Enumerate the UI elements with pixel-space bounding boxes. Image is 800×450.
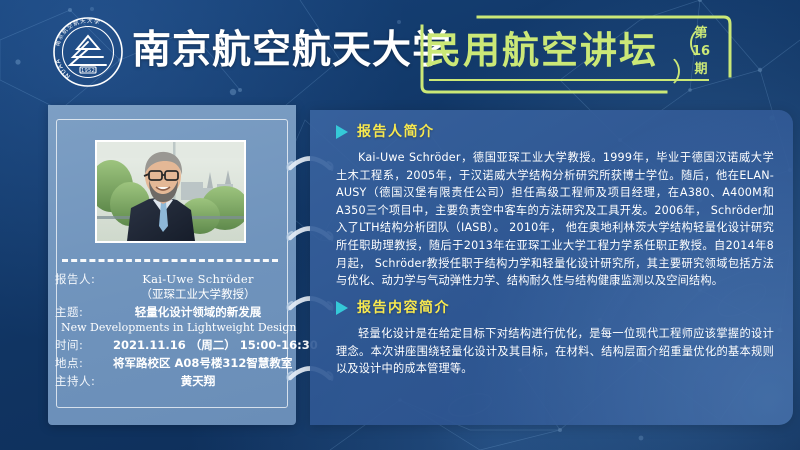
info-row-venue: 地点: 将军路校区 A08号楼312智慧教室 <box>55 356 291 371</box>
info-row-host: 主持人: 黄天翔 <box>55 374 291 389</box>
info-sub-topic-en: New Developments in Lightweight Design <box>61 320 291 335</box>
section-speaker-bio-title: 报告人简介 <box>357 123 435 141</box>
info-label-time: 时间: <box>55 338 111 353</box>
section-abstract: 报告内容简介 轻量化设计是在给定目标下对结构进行优化，是每一位现代工程师应该掌握… <box>336 298 774 378</box>
poster-root: 1952 NUAA 南京航空航天大学 南京航空航天大学 <box>0 0 800 450</box>
issue-prefix: 第 <box>684 26 718 42</box>
info-value-speaker: Kai-Uwe Schröder <box>113 272 291 287</box>
nuaa-logo-icon: 1952 NUAA 南京航空航天大学 <box>52 16 124 88</box>
issue-suffix: 期 <box>684 62 718 78</box>
svg-text:1952: 1952 <box>81 68 95 74</box>
section-speaker-bio: 报告人简介 Kai-Uwe Schröder，德国亚琛工业大学教授。1999年，… <box>336 122 774 290</box>
speaker-photo <box>95 140 246 243</box>
card-divider <box>62 259 278 262</box>
info-value-host: 黄天翔 <box>113 374 291 389</box>
info-value-topic: 轻量化设计领域的新发展 <box>113 305 291 320</box>
issue-number: 16 <box>684 44 718 60</box>
university-name: 南京航空航天大学 <box>132 27 452 75</box>
info-label-host: 主持人: <box>55 374 111 389</box>
section-speaker-bio-body: Kai-Uwe Schröder，德国亚琛工业大学教授。1999年，毕业于德国汉… <box>336 149 774 290</box>
section-abstract-header: 报告内容简介 <box>336 298 774 318</box>
section-abstract-title: 报告内容简介 <box>357 299 450 317</box>
forum-title: 民用航空讲坛 <box>424 26 658 76</box>
section-speaker-bio-header: 报告人简介 <box>336 122 774 142</box>
info-label-venue: 地点: <box>55 356 111 371</box>
info-row-time: 时间: 2021.11.16 （周二） 15:00-16:30 <box>55 338 291 353</box>
triangle-marker-icon <box>336 301 348 315</box>
info-value-venue: 将军路校区 A08号楼312智慧教室 <box>113 356 291 371</box>
info-label-topic: 主题: <box>55 305 111 320</box>
info-value-time: 2021.11.16 （周二） 15:00-16:30 <box>113 338 291 353</box>
section-abstract-body: 轻量化设计是在给定目标下对结构进行优化，是每一位现代工程师应该掌握的设计理念。本… <box>336 325 774 378</box>
info-label-speaker: 报告人: <box>55 272 111 287</box>
speaker-info-list: 报告人: Kai-Uwe Schröder （亚琛工业大学教授） 主题: 轻量化… <box>55 272 291 392</box>
info-row-speaker: 报告人: Kai-Uwe Schröder （亚琛工业大学教授） <box>55 272 291 302</box>
info-row-topic: 主题: 轻量化设计领域的新发展 New Developments in Ligh… <box>55 305 291 335</box>
triangle-marker-icon <box>336 125 348 139</box>
content-panel: 报告人简介 Kai-Uwe Schröder，德国亚琛工业大学教授。1999年，… <box>310 110 793 425</box>
info-sub-speaker: （亚琛工业大学教授） <box>113 287 291 302</box>
